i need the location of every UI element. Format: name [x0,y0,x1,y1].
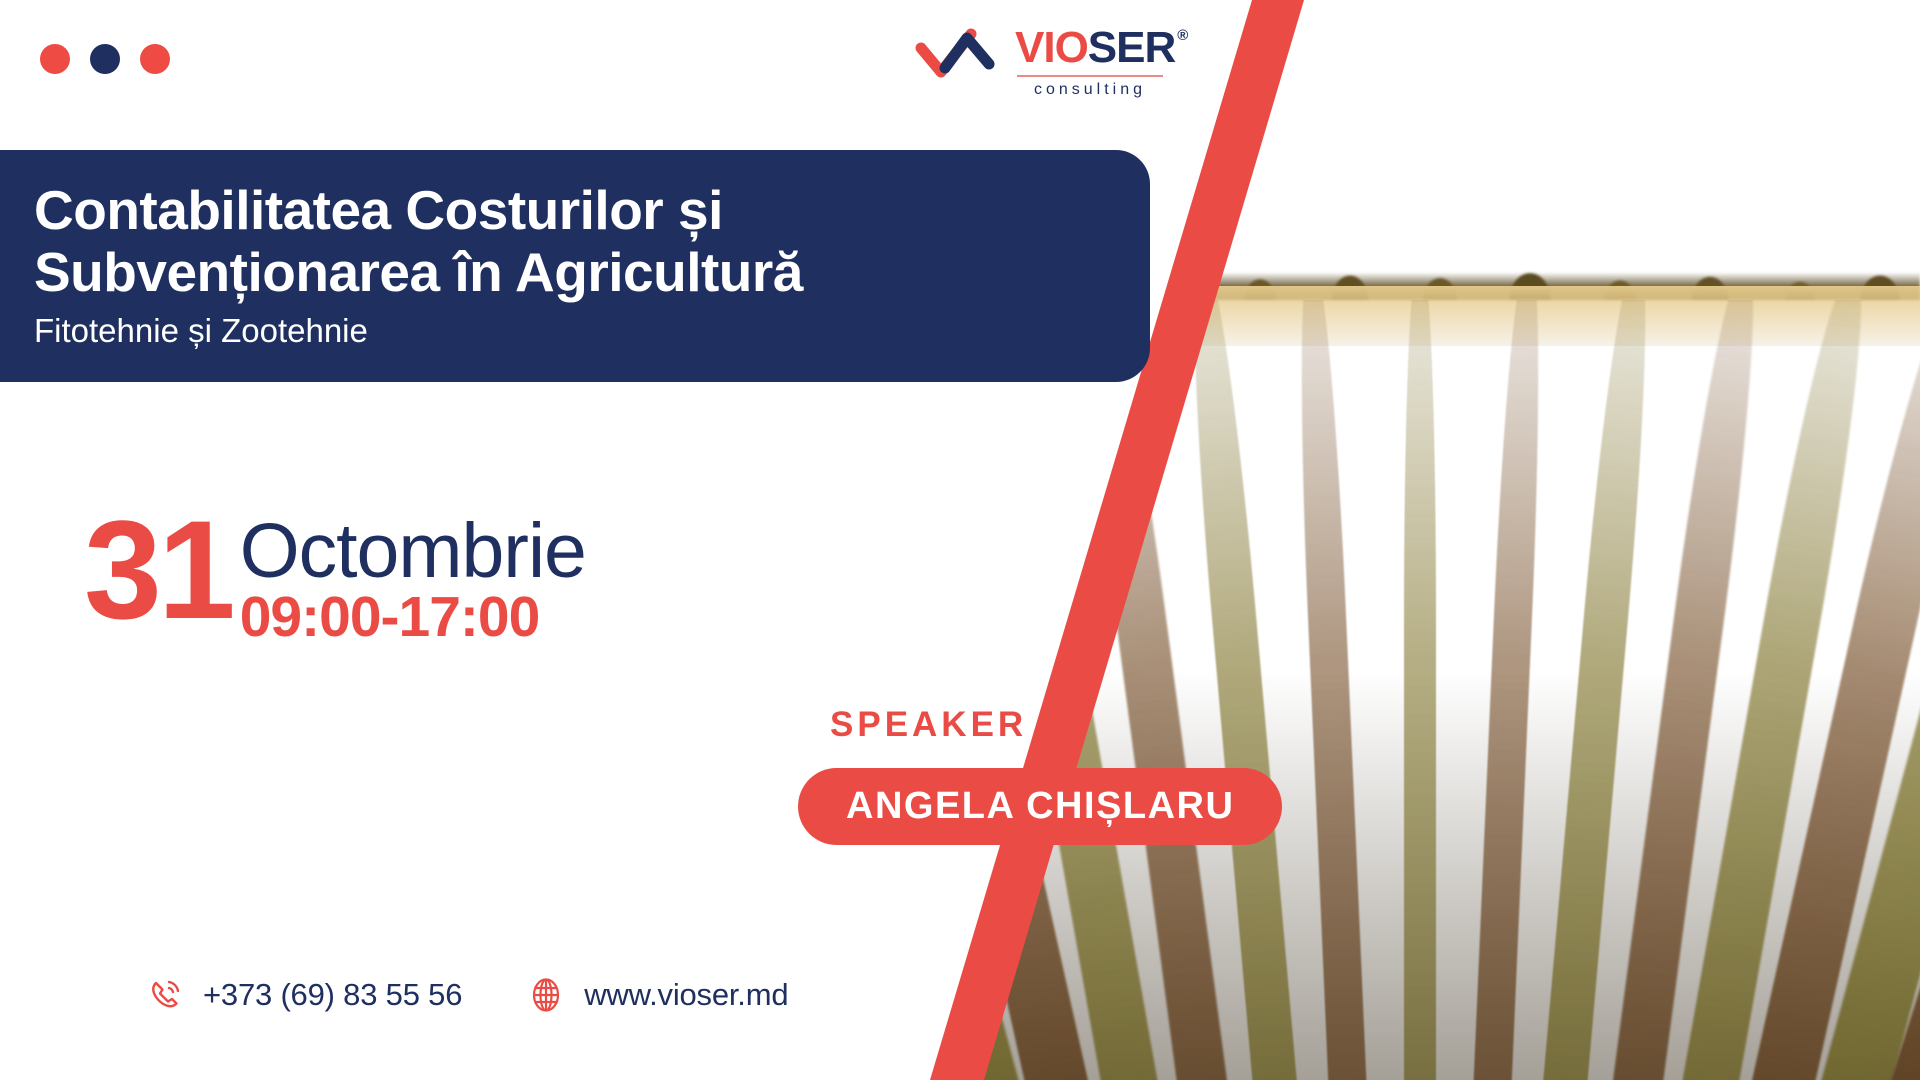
vioser-wordmark: VIO SER ® [1015,26,1187,70]
event-month: Octombrie [240,516,586,587]
title-card: Contabilitatea Costurilor și Subvenționa… [0,150,1150,382]
crop-row [920,300,965,1080]
wordmark-vio: VIO [1015,26,1088,70]
wordmark-ser: SER [1088,26,1175,70]
dot-navy [90,44,120,74]
page-title-line-2: Subvenționarea în Agricultură [34,242,1110,304]
registered-mark: ® [1177,28,1187,43]
globe-icon [526,975,566,1015]
speaker-name: ANGELA CHIȘLARU [846,785,1234,827]
contact-website[interactable]: www.vioser.md [526,975,788,1015]
page-title-line-1: Contabilitatea Costurilor și [34,180,1110,242]
logo-underline [1017,75,1163,77]
phone-icon [145,975,185,1015]
vioser-logo[interactable]: VIO SER ® consulting [915,24,1187,99]
speaker-pill: ANGELA CHIȘLARU [798,768,1282,845]
event-day: 31 [84,510,232,630]
website-url: www.vioser.md [584,977,788,1013]
contact-phone[interactable]: +373 (69) 83 55 56 [145,975,462,1015]
event-hours: 09:00-17:00 [240,589,586,646]
logo-tagline: consulting [1015,81,1165,99]
speaker-label: SPEAKER [830,705,1027,745]
phone-number: +373 (69) 83 55 56 [203,977,462,1013]
event-poster: VIO SER ® consulting Contabilitatea Cost… [0,0,1920,1080]
page-subtitle: Fitotehnie și Zootehnie [34,312,1110,350]
dot-red-2 [140,44,170,74]
event-date-block: 31 Octombrie 09:00-17:00 [84,510,586,646]
dot-red-1 [40,44,70,74]
window-dots [40,44,170,74]
footer-contacts: +373 (69) 83 55 56 www.vioser.md [145,975,788,1015]
vioser-checkmark-logo-icon [915,24,1001,86]
